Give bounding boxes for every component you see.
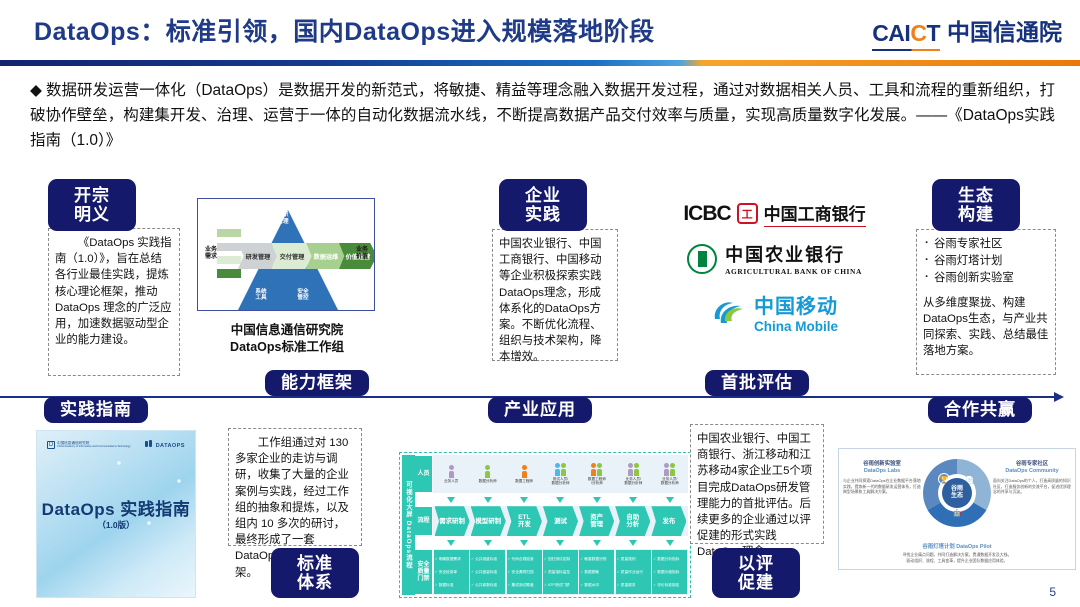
abc-logo: 中国农业银行 AGRICULTURAL BANK OF CHINA bbox=[652, 241, 897, 276]
textbox-kaizong-text: 《DataOps 实践指南（1.0）》，旨在总结各行业最佳实践，提炼核心理论框架… bbox=[55, 237, 171, 346]
stage-arrow-ops: 数据运维 bbox=[306, 243, 346, 269]
book-header-logos: D 中国信息通信研究院 China Academy of Information… bbox=[47, 440, 185, 449]
book-cover-dataops-guide: D 中国信息通信研究院 China Academy of Information… bbox=[36, 430, 196, 598]
arrow-down-icon bbox=[593, 540, 601, 546]
gate-item: 集成测试覆盖 bbox=[508, 583, 541, 588]
process-stage-arrow: 需求研制 bbox=[435, 506, 470, 536]
textbox-qiye-shijian: 中国农业银行、中国工商银行、中国移动等企业积极探索实践DataOps理念，形成体… bbox=[492, 229, 618, 361]
label-system-tools: 系统 工具 bbox=[246, 289, 276, 302]
role-label: 业务人员 bbox=[444, 479, 458, 483]
matrix-rows: 人员 业务人员 数据分析师 数据工程师 测试人员/ 数据分析师 bbox=[415, 455, 688, 595]
gate-item: 公共维度标准 bbox=[471, 557, 504, 562]
gate-item: 数据分析指标 bbox=[653, 557, 686, 562]
process-stage-arrow: 模型研制 bbox=[471, 506, 506, 536]
textbox-qiye-text: 中国农业银行、中国工商银行、中国移动等企业积极探索实践DataOps理念，形成体… bbox=[499, 238, 602, 363]
book-brand: DATAOPS bbox=[145, 440, 185, 449]
role-label: 测试人员/ 数据分析师 bbox=[551, 477, 569, 486]
gate-box: 质量规则 质量作业运行 质量服务 bbox=[616, 550, 651, 594]
arrow-down-icon bbox=[520, 540, 528, 546]
badge-label: 能力框架 bbox=[281, 373, 353, 392]
gate-item: 安全检查单 bbox=[435, 570, 468, 575]
eco-labs-desc: 与企业共同探索DataOps在企业数据平台落地实践，提炼新一代的数据研发运营体系… bbox=[843, 478, 921, 495]
book-subtitle: （1.0版） bbox=[37, 519, 195, 531]
arrow-down-icon bbox=[629, 497, 637, 503]
eco-panel-community: 谷雨专家社区 DataOps Community 面向关注DataOps的个人，… bbox=[993, 461, 1071, 495]
gate-item: 质量服务 bbox=[617, 583, 650, 588]
matrix-row-gates: 安全 质量 门禁 明确数据需求 安全检查单 数据标准 公共维度标准 公共度量标准… bbox=[415, 549, 688, 595]
eco-pilot-desc-2: 驱动组织、流程、工具变革，提升企业团队数据应用体验。 bbox=[873, 558, 1041, 564]
ecosystem-diagram: 谷雨创新实验室 DataOps Labs 与企业共同探索DataOps在企业数据… bbox=[838, 448, 1076, 570]
textbox-nengli-kuangjia: 工作组通过对 130 多家企业的走访与调研，收集了大量的企业案例与实践，经过工作… bbox=[228, 428, 362, 546]
arrow-down-icon bbox=[447, 497, 455, 503]
icbc-seal-icon: 工 bbox=[737, 203, 758, 224]
badge-label: 产业应用 bbox=[504, 400, 576, 419]
list-item: 谷雨专家社区 bbox=[923, 236, 1049, 252]
row-label-people: 人员 bbox=[415, 456, 432, 492]
gate-item: 数据脱敏 bbox=[580, 570, 613, 575]
people-cell: 业务人员/ 数据分析师 bbox=[652, 455, 688, 493]
eco-labs-title: 谷雨创新实验室 bbox=[843, 461, 921, 468]
caict-mark-icon: D bbox=[47, 441, 55, 449]
svg-text:🤖: 🤖 bbox=[953, 508, 962, 517]
role-label: 数据分析师 bbox=[479, 479, 497, 483]
matrix-vertical-label: 可视化大屏 DataOps流程 bbox=[402, 455, 415, 595]
gate-box: 敏感数据识别 数据脱敏 数据水印 bbox=[579, 550, 614, 594]
process-stage-arrow: 资产 管理 bbox=[579, 506, 614, 536]
logo-underline bbox=[872, 49, 940, 52]
role-label: 数据工程师 bbox=[515, 479, 533, 483]
arrow-down-icon bbox=[447, 540, 455, 546]
logo-text-t: T bbox=[926, 20, 940, 46]
gate-item: 敏感数据识别 bbox=[580, 557, 613, 562]
role-label: 业务人员/ 数据分析师 bbox=[661, 477, 679, 486]
gate-item: 质量指标监控 bbox=[544, 570, 577, 575]
label-security-control: 安全 管控 bbox=[288, 289, 318, 302]
eco-pilot-title: 谷雨灯塔计划 DataOps Pilot bbox=[873, 542, 1041, 550]
gate-cells: 明确数据需求 安全检查单 数据标准 公共维度标准 公共度量标准 公共参数标准 代… bbox=[433, 549, 688, 595]
eco-center-label: 谷雨 生态 bbox=[942, 478, 972, 508]
people-cell: 数据分析师 bbox=[469, 455, 505, 493]
badge-kaizong-mingyi[interactable]: 开宗 明义 bbox=[48, 179, 136, 231]
arrow-down-icon bbox=[484, 540, 492, 546]
arrow-down-icon bbox=[593, 497, 601, 503]
gate-item: 评价标准制定 bbox=[653, 583, 686, 588]
textbox-shengtai: 谷雨专家社区 谷雨灯塔计划 谷雨创新实验室 从多维度聚拢、构建DataOps生态… bbox=[916, 229, 1056, 375]
gate-item: 公共度量标准 bbox=[471, 570, 504, 575]
icbc-logo: ICBC 工 中国工商银行 bbox=[652, 200, 897, 227]
badge-line-2: 体系 bbox=[297, 573, 333, 592]
label-business-demand: 业务 需求 bbox=[201, 247, 221, 261]
badge-line-1: 开宗 bbox=[74, 186, 110, 205]
gate-item: 数据价值指标 bbox=[653, 570, 686, 575]
process-stage-arrow: 发布 bbox=[651, 506, 686, 536]
caict-wordmark: CAICT bbox=[872, 20, 940, 51]
diamond-bullet-icon: ◆ bbox=[30, 82, 42, 99]
cmcc-cn-text: 中国移动 bbox=[754, 290, 838, 319]
enterprise-logos: ICBC 工 中国工商银行 中国农业银行 AGRICULTURAL BANK O… bbox=[652, 200, 897, 348]
abc-emblem-icon bbox=[687, 244, 717, 274]
badge-biaozhun-tixi[interactable]: 标准 体系 bbox=[271, 548, 359, 598]
matrix-row-people: 人员 业务人员 数据分析师 数据工程师 测试人员/ 数据分析师 bbox=[415, 455, 688, 493]
badge-shengtai-goujian[interactable]: 生态 构建 bbox=[932, 179, 1020, 231]
logo-chinese-name: 中国信通院 bbox=[947, 13, 1062, 51]
label-business-value: 业务 价值 bbox=[352, 247, 372, 261]
badge-hezuo-gongying[interactable]: 合作共赢 bbox=[928, 397, 1032, 423]
badge-shoupi-pinggu[interactable]: 首批评估 bbox=[705, 370, 809, 396]
badge-line-1: 生态 bbox=[958, 186, 994, 205]
value-stream-diagram: 业务 需求 业务 价值 组织 管理 系统 工具 安全 管控 研发管理 交付管理 … bbox=[197, 198, 375, 311]
gate-item: 明确数据需求 bbox=[435, 557, 468, 562]
gate-item: 数据标准 bbox=[435, 583, 468, 588]
book-org-logo: D 中国信息通信研究院 China Academy of Information… bbox=[47, 441, 131, 449]
row-label-gates: 安全 质量 门禁 bbox=[415, 550, 432, 594]
gate-box: 回归测试定制 质量指标监控 ATP测试门禁 bbox=[543, 550, 578, 594]
arrow-down-icon bbox=[629, 540, 637, 546]
eco-community-en: DataOps Community bbox=[993, 468, 1071, 475]
list-item: 谷雨创新实验室 bbox=[923, 270, 1049, 286]
role-label: 数据工程师 /分析师 bbox=[588, 477, 606, 486]
process-stage-arrow: 测试 bbox=[543, 506, 578, 536]
people-cell: 测试人员/ 数据分析师 bbox=[542, 455, 578, 493]
eco-donut-chart: 🏆 📄 🤖 谷雨 生态 bbox=[921, 457, 993, 529]
lead-text: 数据研发运营一体化（DataOps）是数据开发的新范式，将敏捷、精益等理念融入数… bbox=[30, 82, 1055, 149]
list-item: 谷雨灯塔计划 bbox=[923, 253, 1049, 269]
lead-paragraph: ◆数据研发运营一体化（DataOps）是数据开发的新范式，将敏捷、精益等理念融入… bbox=[30, 78, 1055, 153]
slide-header: DataOps：标准引领，国内DataOps进入规模落地阶段 CAICT 中国信… bbox=[0, 0, 1080, 56]
people-cells: 业务人员 数据分析师 数据工程师 测试人员/ 数据分析师 数据工程师 /分析师 bbox=[433, 455, 688, 493]
process-stage-arrow: ETL 开发 bbox=[507, 506, 542, 536]
arrow-down-icon bbox=[520, 497, 528, 503]
spacer bbox=[415, 536, 433, 549]
gate-box: 代码合规检查 安全漏洞扫描 集成测试覆盖 bbox=[507, 550, 542, 594]
china-mobile-emblem-icon bbox=[711, 297, 747, 327]
arrow-down-icon bbox=[556, 497, 564, 503]
role-label: 业务人员/ 数据分析师 bbox=[624, 477, 642, 486]
process-arrows: 需求研制 模型研制 ETL 开发 测试 资产 管理 自助 分析 发布 bbox=[433, 506, 688, 537]
down-arrows-top bbox=[433, 493, 688, 506]
china-mobile-logo: 中国移动 China Mobile bbox=[652, 290, 897, 334]
process-capability-matrix: 可视化大屏 DataOps流程 人员 业务人员 数据分析师 数据工程师 bbox=[399, 452, 691, 598]
arrow-down-icon bbox=[484, 497, 492, 503]
book-org-name: 中国信息通信研究院 China Academy of Information a… bbox=[57, 441, 131, 449]
logo-text-c: C bbox=[910, 20, 926, 46]
badge-line-1: 标准 bbox=[297, 554, 333, 573]
abc-cn-text: 中国农业银行 bbox=[725, 241, 862, 267]
gate-box: 数据分析指标 数据价值指标 评价标准制定 bbox=[652, 550, 687, 594]
badge-shijian-zhinan[interactable]: 实践指南 bbox=[44, 397, 148, 423]
row-label-process: 流程 bbox=[415, 507, 432, 536]
eco-panel-labs: 谷雨创新实验室 DataOps Labs 与企业共同探索DataOps在企业数据… bbox=[843, 461, 921, 495]
book-title: DataOps 实践指南 bbox=[37, 495, 195, 520]
diagram-caption: 中国信息通信研究院 DataOps标准工作组 bbox=[197, 322, 377, 356]
spacer bbox=[923, 288, 1049, 295]
stage-arrow-rd: 研发管理 bbox=[238, 243, 278, 269]
icbc-cn-text: 中国工商银行 bbox=[764, 200, 866, 227]
people-cell: 数据工程师 /分析师 bbox=[579, 455, 615, 493]
badge-line-2: 构建 bbox=[958, 205, 994, 224]
gate-item: 质量作业运行 bbox=[617, 570, 650, 575]
gate-box: 公共维度标准 公共度量标准 公共参数标准 bbox=[470, 550, 505, 594]
badge-qiye-shijian[interactable]: 企业 实践 bbox=[499, 179, 587, 231]
caption-line-2: DataOps标准工作组 bbox=[197, 339, 377, 356]
gate-item: 质量规则 bbox=[617, 557, 650, 562]
eco-labs-en: DataOps Labs bbox=[843, 468, 921, 475]
cmcc-en-text: China Mobile bbox=[754, 319, 838, 334]
gate-item: 数据水印 bbox=[580, 583, 613, 588]
people-cell: 业务人员 bbox=[433, 455, 469, 493]
eco-community-desc: 面向关注DataOps的个人，打造高质量的知识社区，打造服务创新的交流平台，促进… bbox=[993, 478, 1071, 495]
page-title: DataOps：标准引领，国内DataOps进入规模落地阶段 bbox=[34, 12, 655, 48]
badge-label: 首批评估 bbox=[721, 373, 793, 392]
gate-box: 明确数据需求 安全检查单 数据标准 bbox=[434, 550, 469, 594]
badge-label: 实践指南 bbox=[60, 400, 132, 419]
gate-item: 回归测试定制 bbox=[544, 557, 577, 562]
down-arrows-bottom bbox=[433, 536, 688, 549]
inflow-ribbon-1 bbox=[217, 229, 241, 237]
page-number: 5 bbox=[1049, 585, 1056, 599]
gate-item: 安全漏洞扫描 bbox=[508, 570, 541, 575]
badge-label: 合作共赢 bbox=[944, 400, 1016, 419]
spacer bbox=[415, 493, 433, 506]
badge-line-2: 促建 bbox=[738, 573, 774, 592]
textbox-pinggu-text: 中国农业银行、中国工商银行、浙江移动和江苏移动4家企业工5个项目完成DataOp… bbox=[697, 433, 812, 558]
textbox-kaizong: 《DataOps 实践指南（1.0）》，旨在总结各行业最佳实践，提炼核心理论框架… bbox=[48, 228, 180, 376]
badge-line-1: 以评 bbox=[738, 554, 774, 573]
icbc-en-text: ICBC bbox=[683, 202, 730, 226]
abc-en-text: AGRICULTURAL BANK OF CHINA bbox=[725, 267, 862, 276]
badge-chanye-yingyong[interactable]: 产业应用 bbox=[488, 397, 592, 423]
logo-text-cai: CAI bbox=[872, 20, 910, 46]
arrow-down-icon bbox=[666, 540, 674, 546]
gate-item: 代码合规检查 bbox=[508, 557, 541, 562]
inflow-ribbon-4 bbox=[217, 269, 241, 278]
eco-community-title: 谷雨专家社区 bbox=[993, 461, 1071, 468]
gate-item: 公共参数标准 bbox=[471, 583, 504, 588]
badge-line-2: 明义 bbox=[74, 205, 110, 224]
matrix-row-arrows-top bbox=[415, 493, 688, 506]
header-divider bbox=[0, 60, 1080, 66]
shengtai-list: 谷雨专家社区 谷雨灯塔计划 谷雨创新实验室 bbox=[923, 236, 1049, 287]
textbox-shoupi-pinggu: 中国农业银行、中国工商银行、浙江移动和江苏移动4家企业工5个项目完成DataOp… bbox=[690, 424, 824, 544]
people-cell: 数据工程师 bbox=[506, 455, 542, 493]
badge-line-2: 实践 bbox=[525, 205, 561, 224]
matrix-row-arrows-bottom bbox=[415, 536, 688, 549]
people-cell: 业务人员/ 数据分析师 bbox=[615, 455, 651, 493]
badge-nengli-kuangjia[interactable]: 能力框架 bbox=[265, 370, 369, 396]
badge-yiping-cujian[interactable]: 以评 促建 bbox=[712, 548, 800, 598]
gate-item: ATP测试门禁 bbox=[544, 583, 577, 588]
badge-line-1: 企业 bbox=[525, 186, 561, 205]
arrow-down-icon bbox=[556, 540, 564, 546]
arrow-down-icon bbox=[666, 497, 674, 503]
eco-panel-pilot: 谷雨灯塔计划 DataOps Pilot 寻找企业痛点问题，共同打造解决方案，贯… bbox=[873, 542, 1041, 564]
matrix-row-process: 流程 需求研制 模型研制 ETL 开发 测试 资产 管理 自助 分析 发布 bbox=[415, 506, 688, 537]
stage-arrow-delivery: 交付管理 bbox=[271, 243, 313, 269]
caict-logo: CAICT 中国信通院 bbox=[872, 13, 1062, 51]
caption-line-1: 中国信息通信研究院 bbox=[197, 322, 377, 339]
label-org-management: 组织 管理 bbox=[266, 212, 300, 225]
textbox-shengtai-text: 从多维度聚拢、构建DataOps生态，与产业共同探索、实践、总结最佳落地方案。 bbox=[923, 297, 1048, 358]
process-stage-arrow: 自助 分析 bbox=[615, 506, 650, 536]
